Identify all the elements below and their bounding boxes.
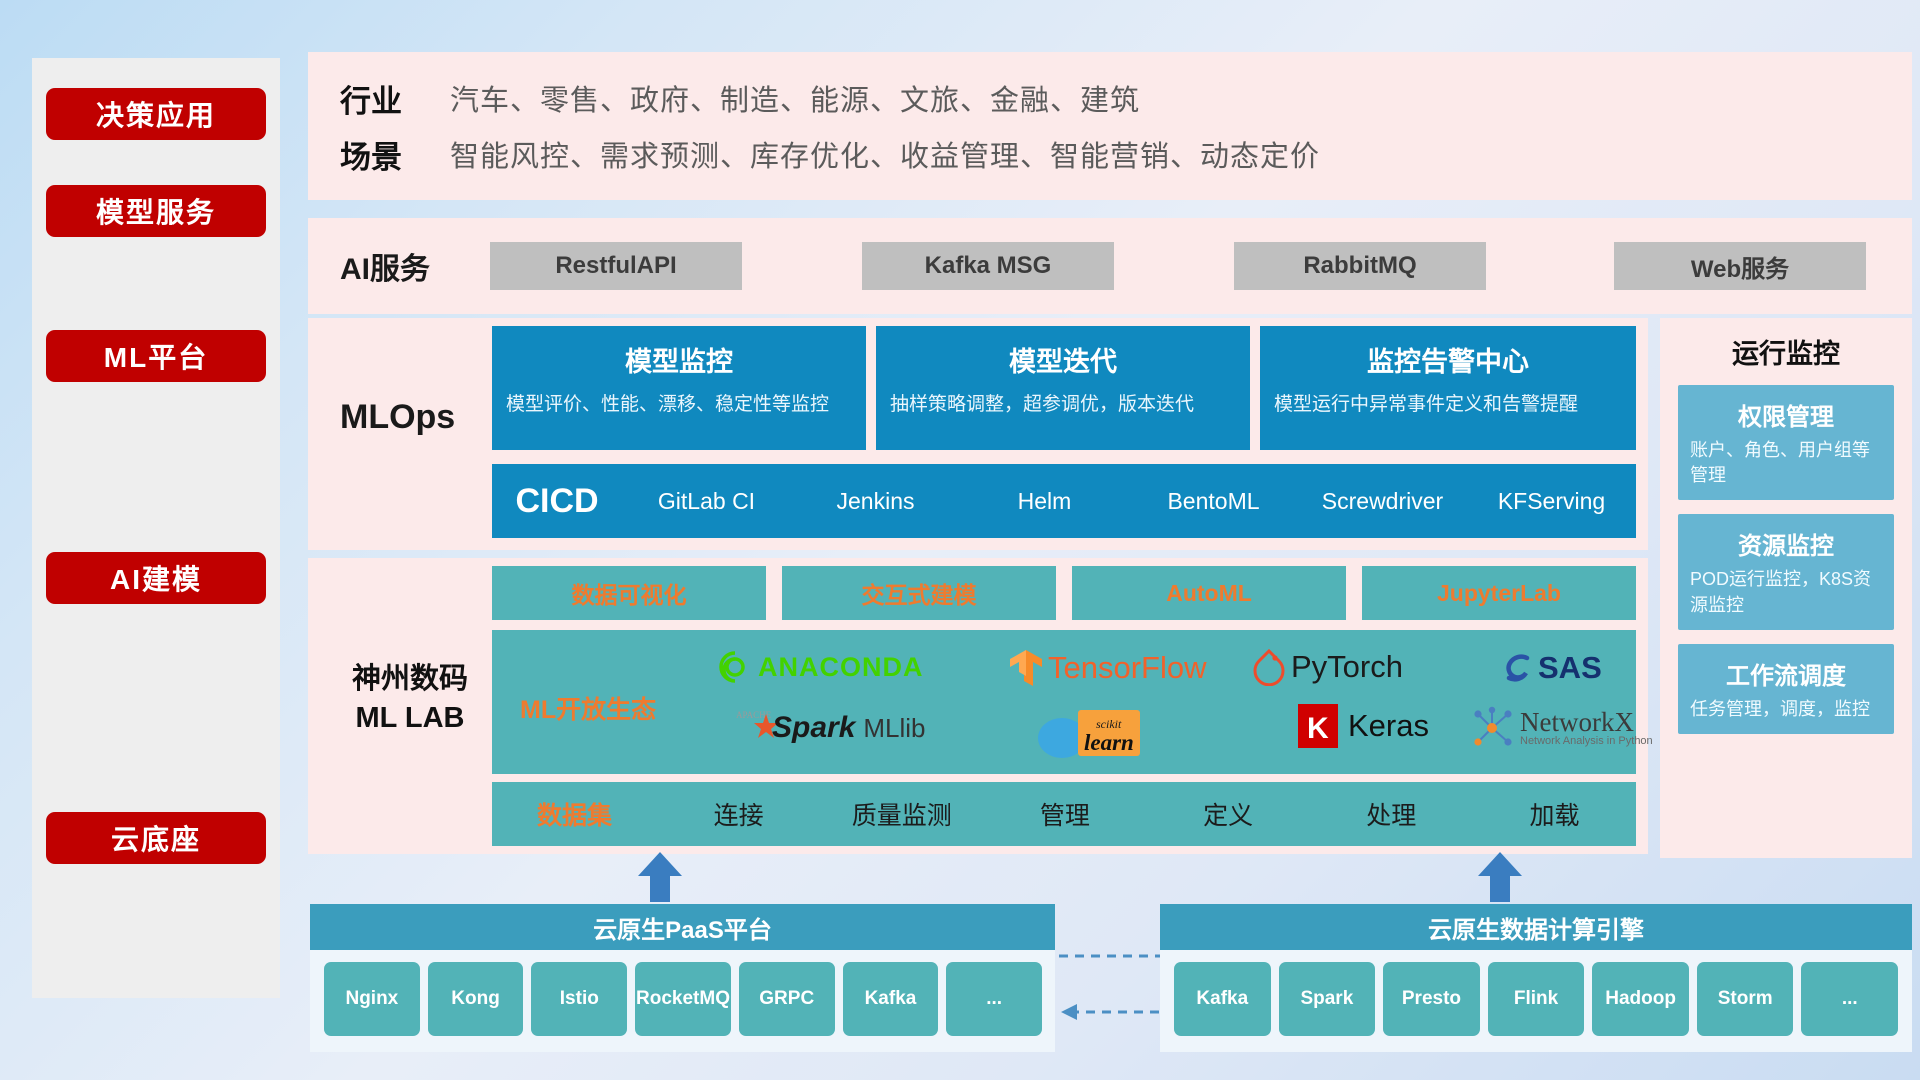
- dataset-item-load[interactable]: 加载: [1473, 796, 1636, 832]
- mlops-card-model-iteration[interactable]: 模型迭代 抽样策略调整，超参调优，版本迭代: [876, 326, 1250, 450]
- logo-pytorch-text: PyTorch: [1291, 649, 1403, 685]
- left-rail: 决策应用 模型服务 ML平台 AI建模 云底座: [32, 58, 280, 998]
- monitoring-card-resource[interactable]: 资源监控 POD运行监控，K8S资源监控: [1678, 514, 1894, 629]
- engine-chip-hadoop[interactable]: Hadoop: [1592, 962, 1689, 1036]
- arrow-up-engine-icon: [1470, 852, 1530, 902]
- logo-anaconda: ANACONDA: [718, 650, 924, 684]
- card-title: 权限管理: [1690, 393, 1882, 438]
- logo-keras-text: Keras: [1348, 708, 1429, 744]
- monitoring-title: 运行监控: [1660, 318, 1912, 371]
- engine-title: 云原生数据计算引擎: [1160, 904, 1912, 950]
- paas-chip-istio[interactable]: Istio: [531, 962, 627, 1036]
- mlops-card-alert-center[interactable]: 监控告警中心 模型运行中异常事件定义和告警提醒: [1260, 326, 1636, 450]
- arrow-up-paas-icon: [630, 852, 690, 902]
- industry-key: 行业: [340, 76, 450, 121]
- cicd-item-jenkins[interactable]: Jenkins: [791, 488, 960, 514]
- card-desc: 模型评价、性能、漂移、稳定性等监控: [492, 379, 866, 419]
- tensorflow-icon: [1008, 648, 1044, 688]
- paas-chip-nginx[interactable]: Nginx: [324, 962, 420, 1036]
- card-desc: 账户、角色、用户组等管理: [1690, 438, 1882, 488]
- cicd-bar: CICD GitLab CI Jenkins Helm BentoML Scre…: [492, 464, 1636, 538]
- logo-networkx: NetworkX Network Analysis in Python: [1470, 706, 1653, 750]
- ml-ecosystem-label: ML开放生态: [520, 690, 656, 726]
- rail-item-decision-app[interactable]: 决策应用: [46, 88, 266, 140]
- engine-chip-kafka[interactable]: Kafka: [1174, 962, 1271, 1036]
- anaconda-icon: [718, 650, 752, 684]
- logo-tensorflow: TensorFlow: [1008, 648, 1207, 688]
- logo-tensorflow-text: TensorFlow: [1048, 650, 1207, 686]
- logo-networkx-text: NetworkX: [1520, 707, 1634, 737]
- dataset-item-connect[interactable]: 连接: [657, 796, 820, 832]
- cicd-item-helm[interactable]: Helm: [960, 488, 1129, 514]
- ai-service-label: AI服务: [340, 242, 430, 290]
- paas-chip-rocketmq[interactable]: RocketMQ: [635, 962, 731, 1036]
- card-desc: 模型运行中异常事件定义和告警提醒: [1260, 379, 1636, 419]
- logo-keras: K Keras: [1296, 702, 1429, 750]
- logo-anaconda-text: ANACONDA: [758, 652, 924, 683]
- card-desc: 任务管理，调度，监控: [1690, 697, 1882, 722]
- ai-service-box-kafka-msg[interactable]: Kafka MSG: [862, 242, 1114, 290]
- logo-scikit-learn: scikit learn: [1030, 706, 1190, 762]
- scenario-row: 场景 智能风控、需求预测、库存优化、收益管理、智能营销、动态定价: [340, 126, 1870, 182]
- engine-chip-storm[interactable]: Storm: [1697, 962, 1794, 1036]
- industry-table: 行业 汽车、零售、政府、制造、能源、文旅、金融、建筑 场景 智能风控、需求预测、…: [340, 70, 1870, 182]
- scenario-key: 场景: [340, 132, 450, 177]
- tool-tab-interactive-modeling[interactable]: 交互式建模: [782, 566, 1056, 620]
- architecture-diagram: 决策应用 模型服务 ML平台 AI建模 云底座 行业 汽车、零售、政府、制造、能…: [0, 0, 1920, 1080]
- engine-chip-flink[interactable]: Flink: [1488, 962, 1585, 1036]
- pytorch-icon: [1252, 648, 1286, 686]
- tool-tab-automl[interactable]: AutoML: [1072, 566, 1346, 620]
- logo-pytorch: PyTorch: [1252, 648, 1403, 686]
- tool-tab-jupyterlab[interactable]: JupyterLab: [1362, 566, 1636, 620]
- cicd-label: CICD: [492, 482, 622, 521]
- cicd-item-kfserving[interactable]: KFServing: [1467, 488, 1636, 514]
- dataset-item-process[interactable]: 处理: [1310, 796, 1473, 832]
- paas-chip-row: Nginx Kong Istio RocketMQ GRPC Kafka ...: [324, 962, 1042, 1036]
- card-title: 资源监控: [1690, 522, 1882, 567]
- svg-text:K: K: [1307, 712, 1329, 745]
- industry-row: 行业 汽车、零售、政府、制造、能源、文旅、金融、建筑: [340, 70, 1870, 126]
- paas-title: 云原生PaaS平台: [310, 904, 1055, 950]
- paas-chip-kong[interactable]: Kong: [428, 962, 524, 1036]
- ai-service-box-web-service[interactable]: Web服务: [1614, 242, 1866, 290]
- ml-lab-label: 神州数码 ML LAB: [330, 660, 490, 738]
- sas-icon: [1500, 650, 1536, 686]
- engine-chip-presto[interactable]: Presto: [1383, 962, 1480, 1036]
- rail-item-ml-platform[interactable]: ML平台: [46, 330, 266, 382]
- scenario-value: 智能风控、需求预测、库存优化、收益管理、智能营销、动态定价: [450, 133, 1320, 175]
- ai-service-box-restfulapi[interactable]: RestfulAPI: [490, 242, 742, 290]
- scikit-learn-icon: scikit learn: [1030, 706, 1190, 762]
- card-desc: 抽样策略调整，超参调优，版本迭代: [876, 379, 1250, 419]
- logo-mllib-text: MLlib: [863, 713, 925, 744]
- cicd-item-gitlab-ci[interactable]: GitLab CI: [622, 488, 791, 514]
- logo-networkx-tagline: Network Analysis in Python: [1520, 736, 1653, 747]
- engine-chip-more[interactable]: ...: [1801, 962, 1898, 1036]
- paas-chip-grpc[interactable]: GRPC: [739, 962, 835, 1036]
- industry-value: 汽车、零售、政府、制造、能源、文旅、金融、建筑: [450, 77, 1140, 119]
- monitoring-card-workflow[interactable]: 工作流调度 任务管理，调度，监控: [1678, 644, 1894, 734]
- monitoring-column: 运行监控 权限管理 账户、角色、用户组等管理 资源监控 POD运行监控，K8S资…: [1660, 318, 1912, 858]
- card-title: 模型监控: [492, 326, 866, 379]
- dataset-item-define[interactable]: 定义: [1147, 796, 1310, 832]
- keras-icon: K: [1296, 702, 1340, 750]
- rail-item-cloud-base[interactable]: 云底座: [46, 812, 266, 864]
- cicd-item-bentoml[interactable]: BentoML: [1129, 488, 1298, 514]
- ml-lab-label-en: ML LAB: [330, 699, 490, 738]
- monitoring-card-permission[interactable]: 权限管理 账户、角色、用户组等管理: [1678, 385, 1894, 500]
- dataset-bar: 数据集 连接 质量监测 管理 定义 处理 加载: [492, 782, 1636, 846]
- logo-spark-mllib: APACHE Spark MLlib: [734, 706, 926, 750]
- engine-chip-spark[interactable]: Spark: [1279, 962, 1376, 1036]
- rail-item-model-service[interactable]: 模型服务: [46, 185, 266, 237]
- mlops-card-model-monitoring[interactable]: 模型监控 模型评价、性能、漂移、稳定性等监控: [492, 326, 866, 450]
- logo-sas-text: SAS: [1538, 650, 1602, 686]
- dataset-item-manage[interactable]: 管理: [983, 796, 1146, 832]
- engine-chip-row: Kafka Spark Presto Flink Hadoop Storm ..…: [1174, 962, 1898, 1036]
- ml-lab-label-cn: 神州数码: [330, 660, 490, 699]
- paas-chip-more[interactable]: ...: [946, 962, 1042, 1036]
- networkx-icon: [1470, 706, 1516, 750]
- card-desc: POD运行监控，K8S资源监控: [1690, 567, 1882, 617]
- paas-chip-kafka[interactable]: Kafka: [843, 962, 939, 1036]
- ai-service-box-rabbitmq[interactable]: RabbitMQ: [1234, 242, 1486, 290]
- dataset-label: 数据集: [492, 796, 657, 832]
- rail-item-ai-modeling[interactable]: AI建模: [46, 552, 266, 604]
- mlops-label: MLOps: [340, 398, 455, 437]
- dataset-item-quality[interactable]: 质量监测: [820, 796, 983, 832]
- card-title: 模型迭代: [876, 326, 1250, 379]
- card-title: 监控告警中心: [1260, 326, 1636, 379]
- tool-tab-data-visualization[interactable]: 数据可视化: [492, 566, 766, 620]
- card-title: 工作流调度: [1690, 652, 1882, 697]
- cicd-item-screwdriver[interactable]: Screwdriver: [1298, 488, 1467, 514]
- svg-text:scikit: scikit: [1096, 717, 1122, 731]
- logo-spark-text: Spark: [772, 711, 855, 745]
- logo-sas: SAS: [1500, 650, 1602, 686]
- svg-text:learn: learn: [1084, 730, 1134, 755]
